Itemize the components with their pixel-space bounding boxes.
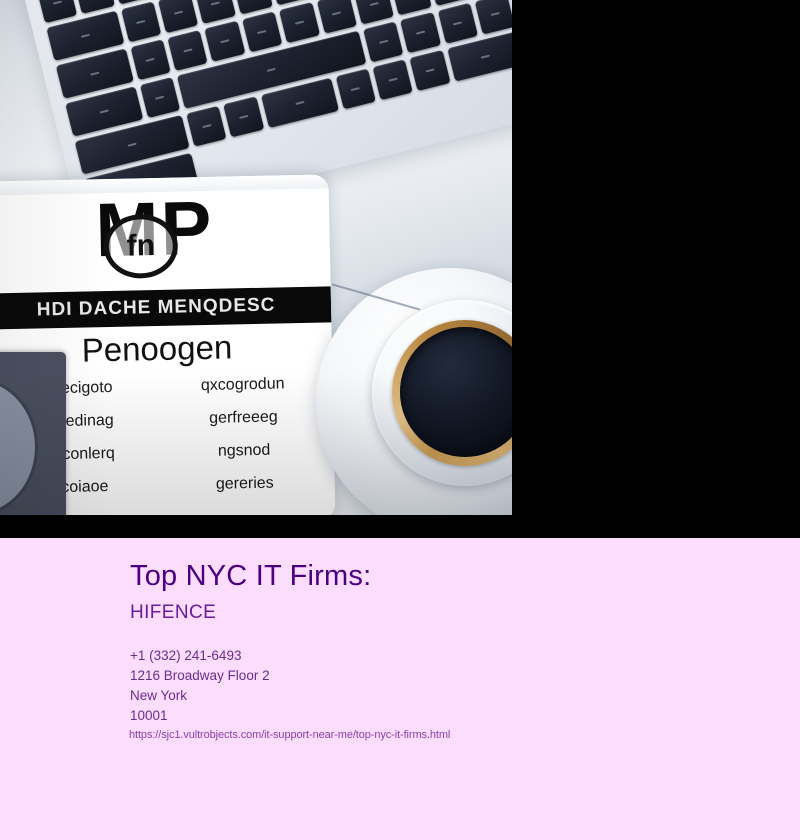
keyboard-key [335, 69, 376, 110]
contact-zip: 10001 [130, 706, 270, 726]
keyboard-key [437, 3, 478, 44]
keyboard-key [186, 106, 227, 147]
keyboard-key [140, 77, 181, 118]
page-title: Top NYC IT Firms: [130, 560, 371, 593]
hero-band: MP HDI DACHE MENQDESC Penoogen xecigoto … [0, 0, 800, 538]
keyboard-key [37, 0, 78, 23]
contact-city: New York [130, 686, 270, 706]
hero-photo: MP HDI DACHE MENQDESC Penoogen xecigoto … [0, 0, 512, 515]
keyboard-key [205, 21, 246, 62]
keyboard-key [475, 0, 512, 35]
card-banner-text: HDI DACHE MENQDESC [0, 286, 331, 329]
keyboard-key [130, 39, 171, 80]
keyboard-key [195, 0, 236, 24]
keyboard-key [121, 1, 162, 42]
keyboard-key [242, 11, 283, 52]
card-word: qxcogrodun [177, 375, 309, 396]
brand-name: HIFENCE [130, 602, 216, 624]
keyboard-key [354, 0, 395, 25]
source-url[interactable]: https://sjc1.vultrobjects.com/it-support… [129, 729, 450, 741]
contact-street: 1216 Broadway Floor 2 [130, 666, 270, 686]
keyboard-key [316, 0, 357, 34]
contact-block: +1 (332) 241-6493 1216 Broadway Floor 2 … [130, 646, 270, 726]
keyboard-key [400, 12, 441, 53]
keyboard-key [410, 50, 451, 91]
card-word: gerfreeeg [177, 408, 309, 429]
keyboard-key [158, 0, 199, 33]
keyboard-key [224, 96, 265, 137]
contact-phone: +1 (332) 241-6493 [130, 646, 270, 666]
keyboard-key [167, 30, 208, 71]
card-word: ngsnod [178, 441, 310, 462]
keyboard-key [363, 21, 404, 62]
grey-device-image [0, 352, 66, 515]
card-word: gereries [179, 474, 311, 495]
keyboard-key [279, 2, 320, 43]
info-panel: Top NYC IT Firms: HIFENCE +1 (332) 241-6… [0, 538, 800, 840]
keyboard-key [372, 59, 413, 100]
